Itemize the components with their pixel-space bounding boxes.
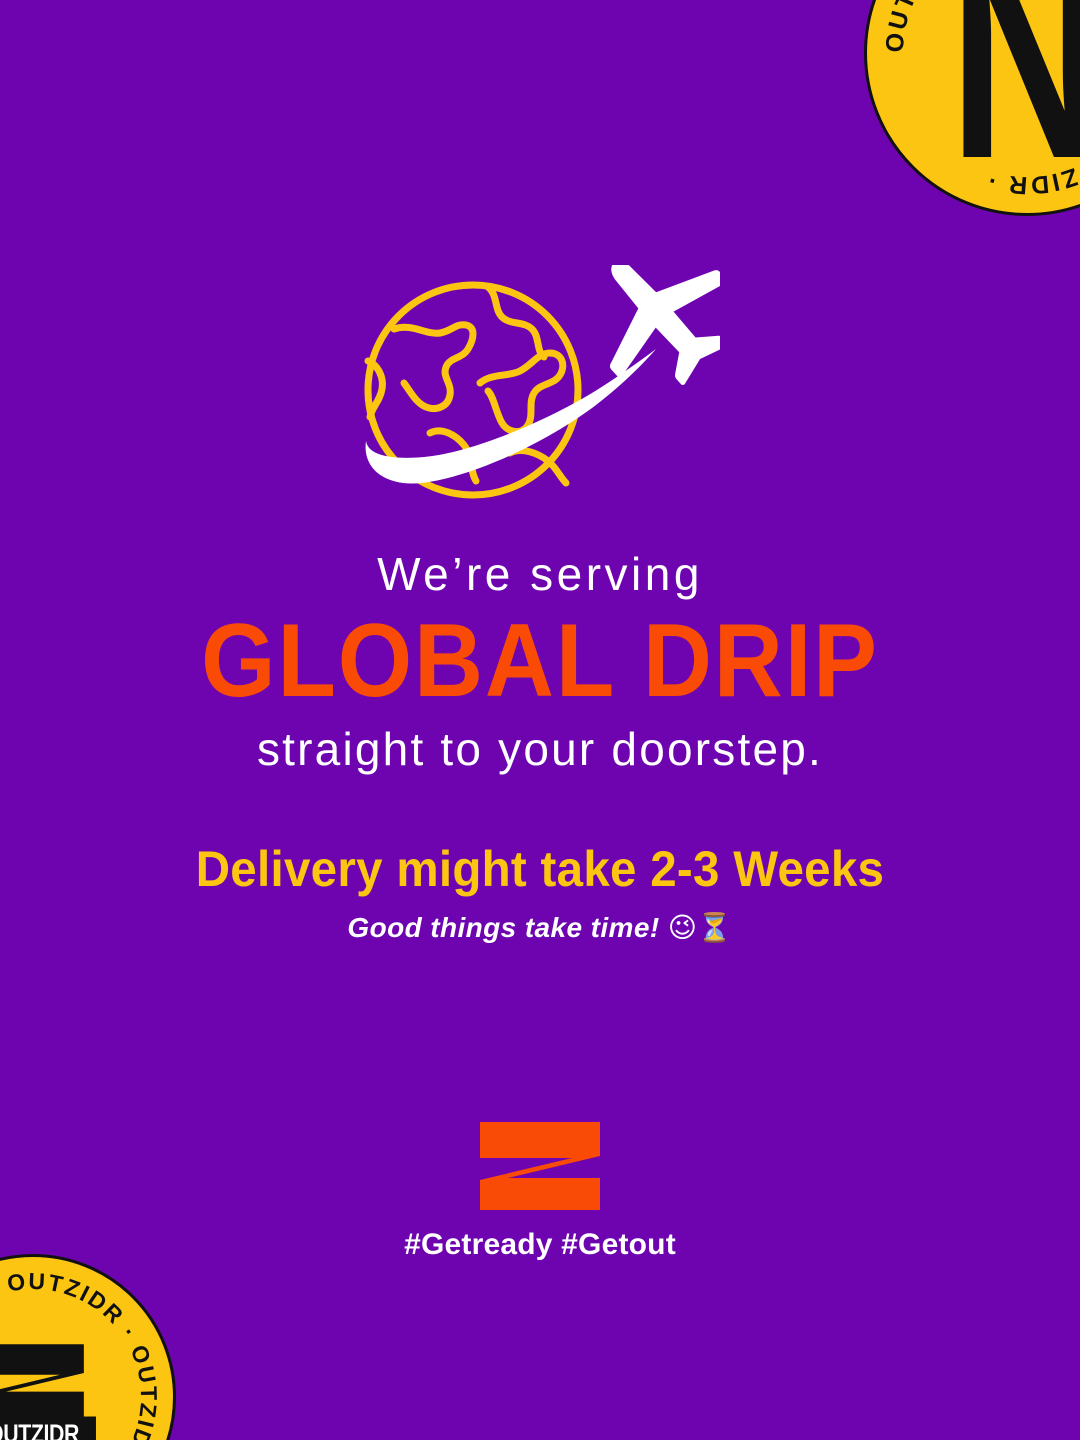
- outzidr-badge-bottom-left: OUTZIDR · OUTZIDR · OUTZIDR · OUTZIDR · …: [0, 1254, 176, 1440]
- badge-wordmark-box: OUTZIDR: [0, 1417, 96, 1440]
- hashtags-text: #Getready #Getout: [0, 1228, 1080, 1262]
- copy-block: We’re serving GLOBAL DRIP straight to yo…: [0, 548, 1080, 945]
- eyebrow-text: We’re serving: [0, 548, 1080, 601]
- badge-center-bottom-left: OUTZIDR: [0, 1343, 96, 1440]
- outzidr-z-mark-icon: [0, 1343, 93, 1421]
- badge-wordmark-text: OUTZIDR: [0, 1421, 79, 1440]
- badge-center-letter: N: [949, 0, 1080, 173]
- outzidr-z-logo-icon: [478, 1120, 602, 1212]
- airplane-icon: [560, 265, 720, 414]
- reassurance-text: Good things take time!: [347, 912, 659, 943]
- subline-text: straight to your doorstep.: [0, 723, 1080, 776]
- hourglass-emoji-icon: ⏳: [697, 912, 732, 943]
- promo-poster: We’re serving GLOBAL DRIP straight to yo…: [0, 0, 1080, 1440]
- delivery-notice-text: Delivery might take 2-3 Weeks: [27, 842, 1053, 897]
- badge-center-top-right: N: [919, 0, 1080, 173]
- outzidr-badge-top-right: OUTZIDR · OUTZIDR · OUTZIDR · OUTZIDR · …: [864, 0, 1080, 216]
- headline-text: GLOBAL DRIP: [43, 605, 1037, 717]
- footer-block: #Getready #Getout: [0, 1120, 1080, 1262]
- reassurance-line: Good things take time! 😉⏳: [0, 911, 1080, 945]
- wink-face-emoji-icon: 😉: [668, 912, 698, 943]
- hero-illustration: [0, 265, 1080, 510]
- globe-airplane-icon: [360, 265, 720, 510]
